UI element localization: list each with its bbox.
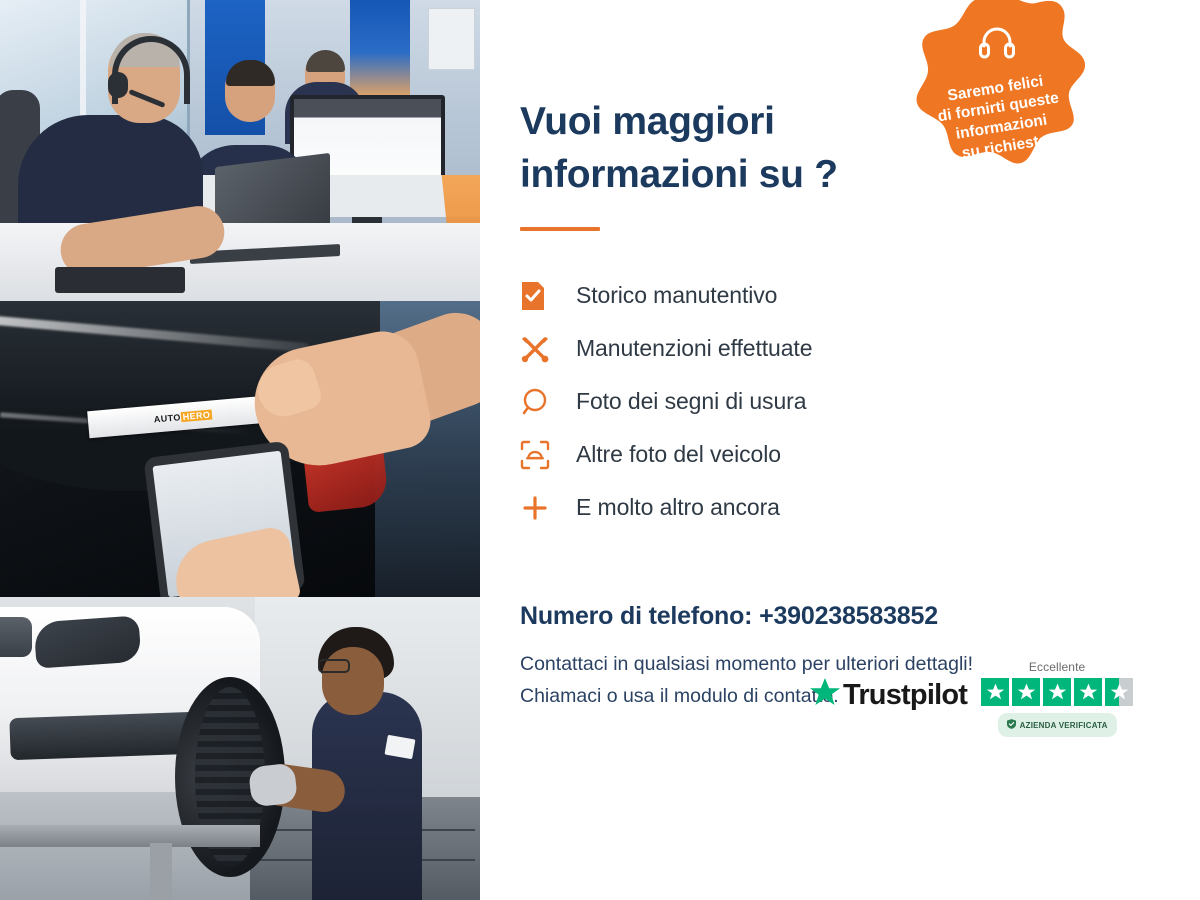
star-filled bbox=[981, 678, 1009, 706]
magnifier-icon bbox=[520, 387, 562, 417]
trustpilot-logo: Trustpilot bbox=[810, 678, 967, 712]
call-center-agents-photo bbox=[0, 0, 480, 301]
feature-item-maintenance-history: Storico manutentivo bbox=[520, 269, 1200, 322]
contact-info-banner: AUTOHERO bbox=[0, 0, 1200, 900]
vehicle-lift-post bbox=[150, 843, 172, 900]
tools-cross-icon bbox=[520, 334, 562, 364]
car-bumper-vent bbox=[9, 712, 195, 760]
page-title: Vuoi maggiori informazioni su ? bbox=[520, 96, 940, 201]
car-scan-icon bbox=[520, 440, 562, 470]
vehicle-inspection-photo: AUTOHERO bbox=[0, 301, 480, 597]
verified-business-badge: AZIENDA VERIFICATA bbox=[998, 713, 1117, 737]
phone-number[interactable]: +390238583852 bbox=[759, 602, 938, 630]
feature-label: Manutenzioni effettuate bbox=[576, 335, 812, 362]
shield-check-icon bbox=[1007, 716, 1016, 734]
feature-label: Storico manutentivo bbox=[576, 282, 777, 309]
heading-line-2: informazioni su ? bbox=[520, 153, 838, 196]
feature-item-more-vehicle-photos: Altre foto del veicolo bbox=[520, 428, 1200, 481]
desk-tablet bbox=[55, 267, 185, 293]
document-check-icon bbox=[520, 281, 562, 311]
mechanic-head bbox=[322, 647, 384, 715]
brand-text-hero: HERO bbox=[180, 409, 212, 422]
phone-number-line: Numero di telefono: +390238583852 bbox=[520, 602, 1200, 631]
phone-label: Numero di telefono: bbox=[520, 602, 759, 630]
trustpilot-score-block: Eccellente bbox=[981, 660, 1133, 737]
star-filled bbox=[1043, 678, 1071, 706]
mechanic-glove bbox=[248, 763, 298, 808]
brand-text-auto: AUTO bbox=[153, 412, 181, 424]
star-rating bbox=[981, 678, 1133, 706]
availability-badge: Saremo felici di fornirti queste informa… bbox=[892, 0, 1102, 204]
trustpilot-wordmark: Trustpilot bbox=[843, 679, 967, 712]
feature-label: Foto dei segni di usura bbox=[576, 388, 806, 415]
car-headlight bbox=[34, 615, 142, 668]
wall-poster bbox=[350, 0, 410, 95]
rating-label: Eccellente bbox=[1029, 660, 1085, 674]
verified-label: AZIENDA VERIFICATA bbox=[1020, 721, 1108, 730]
workshop-mechanic-photo bbox=[0, 597, 480, 900]
trustpilot-star-icon bbox=[810, 678, 840, 712]
trustpilot-rating[interactable]: Trustpilot Eccellente bbox=[810, 660, 1133, 737]
car-grille bbox=[0, 617, 32, 657]
autohero-brand-text: AUTOHERO bbox=[153, 409, 212, 424]
photo-column: AUTOHERO bbox=[0, 0, 480, 900]
agent-headset-earcup bbox=[108, 72, 128, 98]
wall-notice bbox=[428, 8, 475, 70]
contact-line-2: Chiamaci o usa il modulo di contatto. bbox=[520, 685, 839, 707]
feature-label: E molto altro ancora bbox=[576, 494, 780, 521]
feature-item-wear-photos: Foto dei segni di usura bbox=[520, 375, 1200, 428]
feature-list: Storico manutentivo Manutenzi bbox=[520, 269, 1200, 534]
heading-accent-bar bbox=[520, 227, 600, 231]
heading-line-1: Vuoi maggiori bbox=[520, 100, 775, 143]
feature-label: Altre foto del veicolo bbox=[576, 441, 781, 468]
star-filled bbox=[1074, 678, 1102, 706]
star-half bbox=[1105, 678, 1133, 706]
headset-icon bbox=[978, 24, 1016, 60]
plus-icon bbox=[520, 493, 562, 523]
content-panel: Vuoi maggiori informazioni su ? Storico … bbox=[480, 0, 1200, 900]
star-filled bbox=[1012, 678, 1040, 706]
feature-item-much-more: E molto altro ancora bbox=[520, 481, 1200, 534]
mechanic-glasses bbox=[318, 659, 350, 673]
vehicle-lift-platform bbox=[0, 825, 260, 847]
feature-item-services-performed: Manutenzioni effettuate bbox=[520, 322, 1200, 375]
